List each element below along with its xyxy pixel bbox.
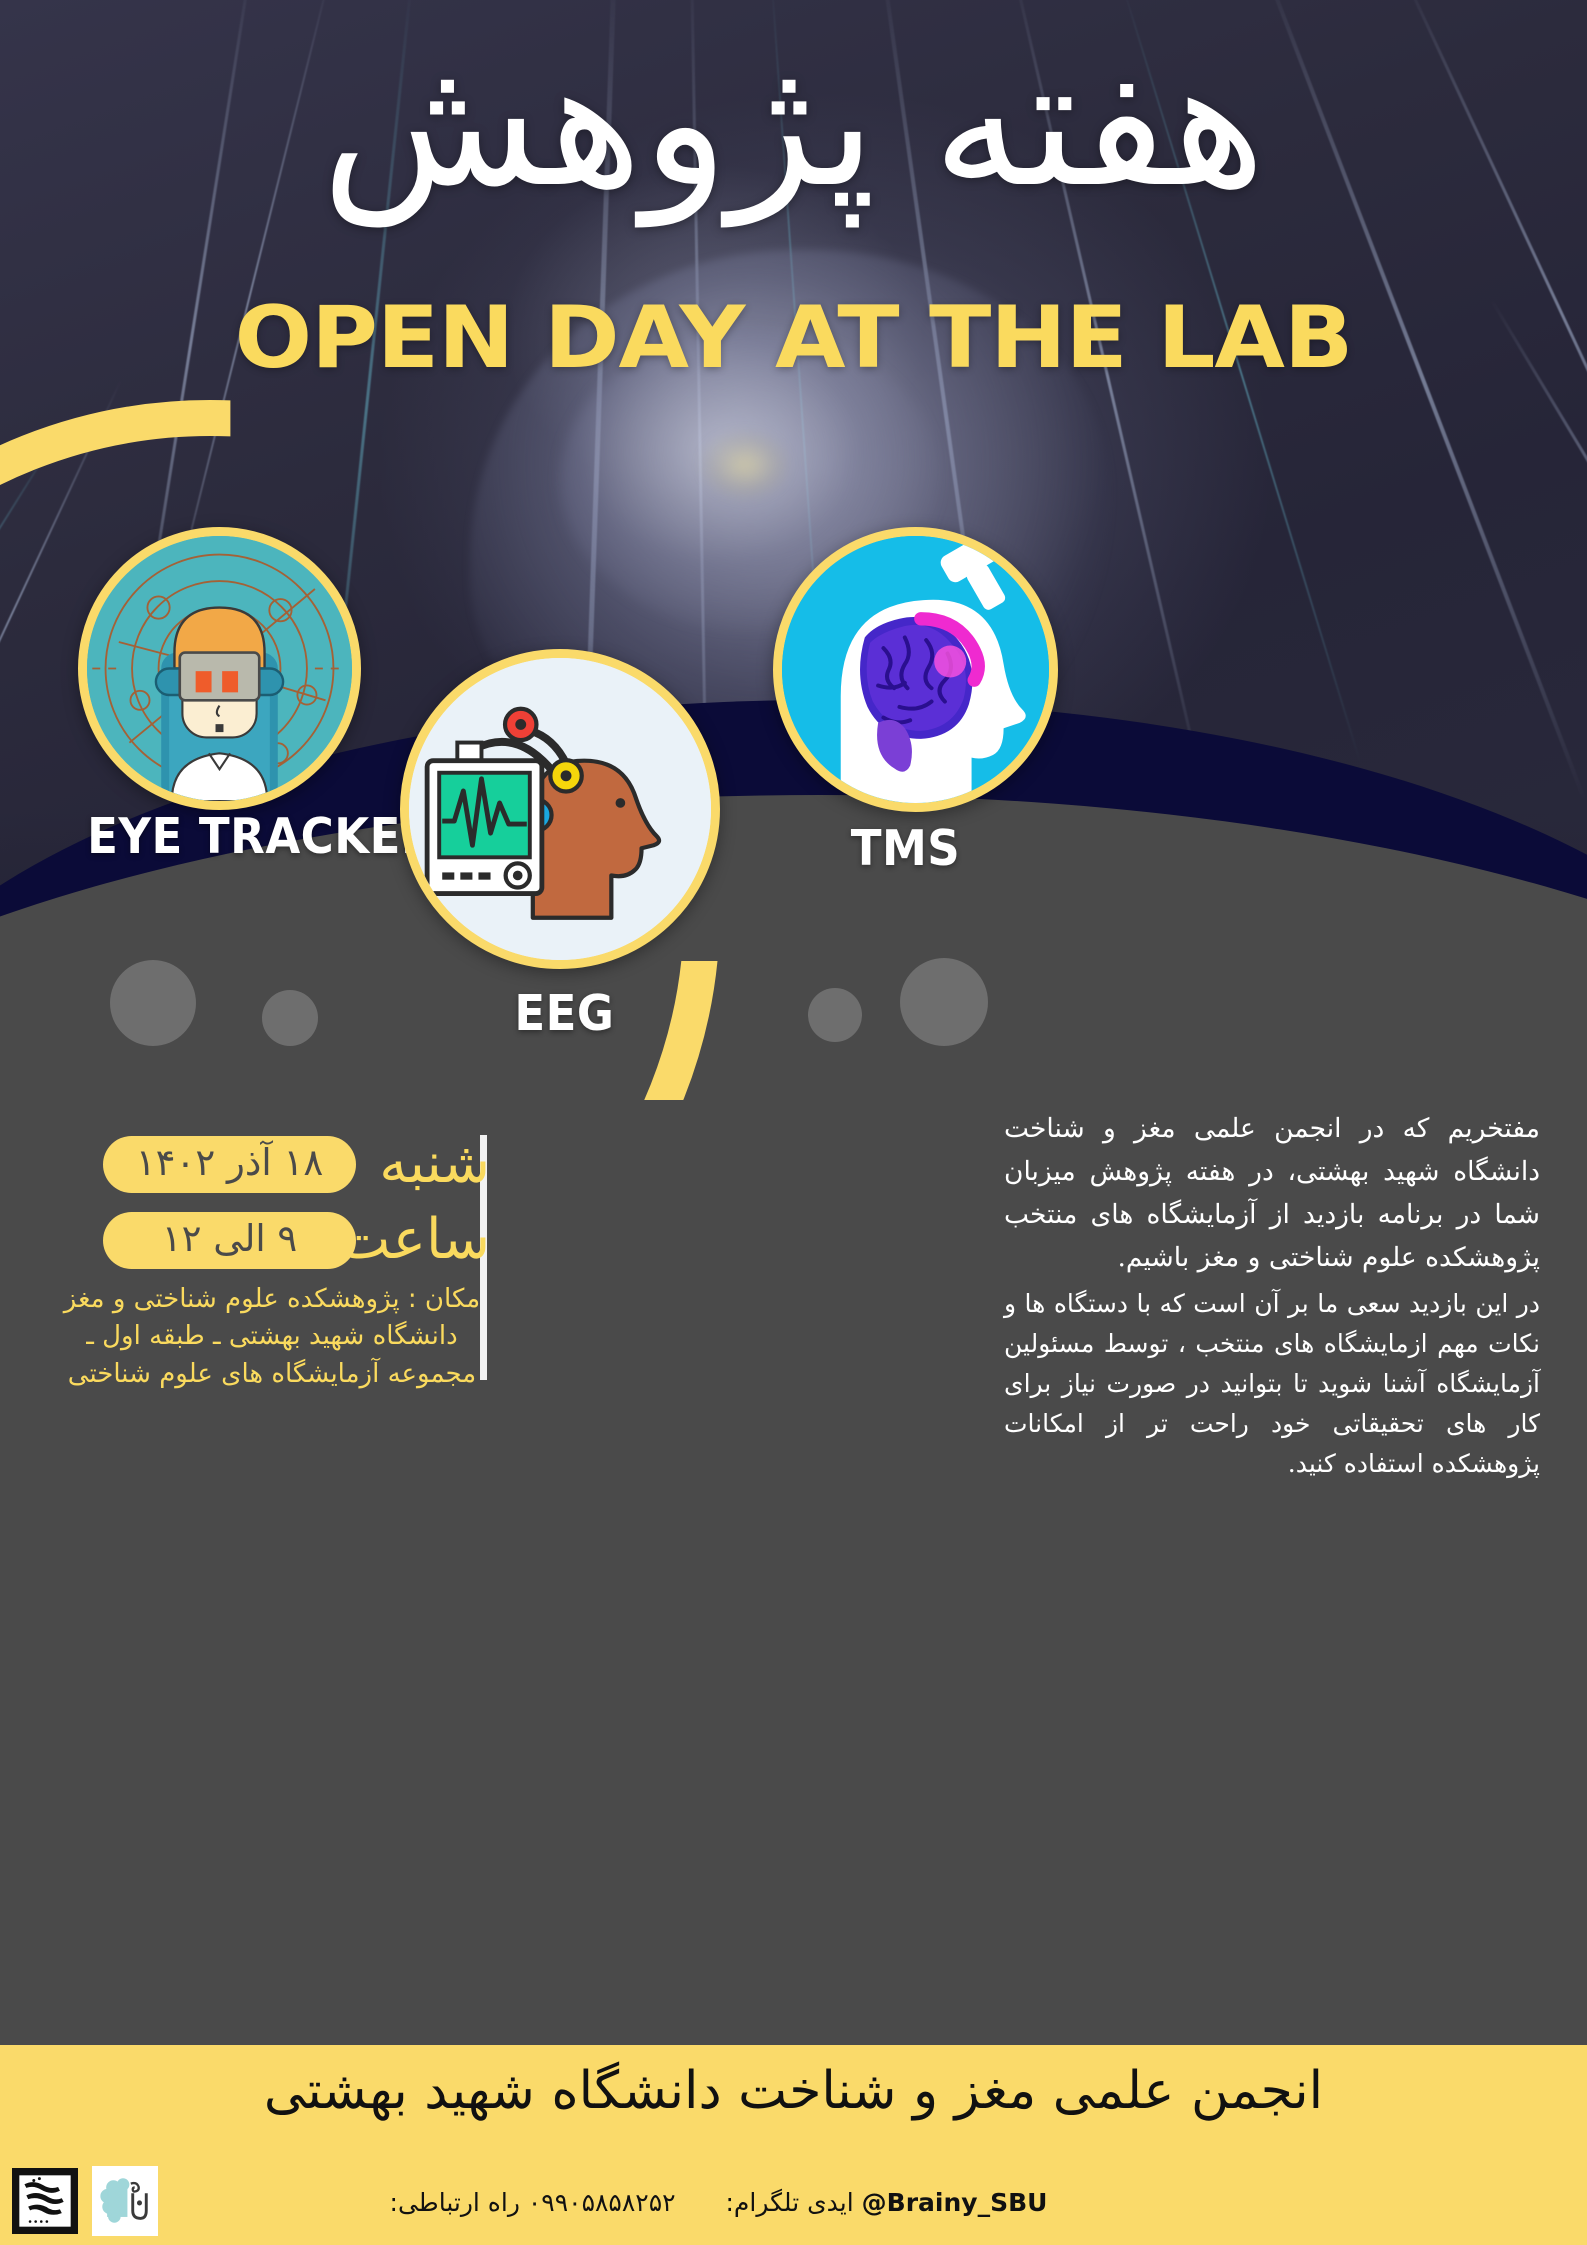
telegram-handle[interactable]: @Brainy_SBU [862, 2188, 1048, 2217]
eye-tracker-icon [87, 536, 352, 801]
decor-dot-3 [808, 988, 862, 1042]
brain-logo-icon [96, 2170, 154, 2232]
page-title-english: OPEN DAY AT THE LAB [0, 295, 1587, 381]
badge-tms[interactable] [773, 527, 1058, 812]
event-time-pill: ۹ الی ۱۲ [103, 1212, 356, 1269]
badge-label-tms: TMS [851, 820, 960, 877]
footer-contact-row: @Brainy_SBU ایدی تلگرام: ۰۹۹۰۵۸۵۸۲۵۲ راه… [0, 2188, 1587, 2217]
poster-root: هفته پژوهش OPEN DAY AT THE LAB [0, 0, 1587, 2245]
telegram-label: ایدی تلگرام: [725, 2188, 853, 2217]
eeg-headset-icon [409, 658, 711, 960]
page-title-persian: هفته پژوهش [0, 30, 1587, 217]
tms-brain-icon [782, 536, 1049, 803]
contact-phone: ۰۹۹۰۵۸۵۸۲۵۲ [528, 2188, 676, 2217]
badge-label-eye-tracker: EYE TRACKER [87, 808, 436, 865]
sbu-logo-icon [17, 2173, 73, 2229]
brain-association-logo [92, 2166, 158, 2236]
event-day-label: شنبه [372, 1135, 490, 1194]
badge-eeg[interactable] [400, 649, 720, 969]
event-day-row: شنبه ۱۸ آذر ۱۴۰۲ [60, 1135, 490, 1194]
description-paragraph-2: در این بازدید سعی ما بر آن است که با دست… [1004, 1284, 1540, 1484]
badge-eye-tracker[interactable] [78, 527, 361, 810]
contact-label: راه ارتباطی: [390, 2188, 520, 2217]
footer-organization: انجمن علمی مغز و شناخت دانشگاه شهید بهشت… [0, 2060, 1587, 2122]
sbu-university-logo [12, 2168, 78, 2234]
event-when-block: شنبه ۱۸ آذر ۱۴۰۲ ساعت ۹ الی ۱۲ [60, 1135, 490, 1287]
description-paragraph-1: مفتخریم که در انجمن علمی مغز و شناخت دان… [1004, 1108, 1540, 1280]
event-time-label: ساعت [372, 1211, 490, 1270]
neuron-spark [700, 430, 790, 500]
decor-dot-1 [110, 960, 196, 1046]
decor-dot-4 [900, 958, 988, 1046]
decor-dot-2 [262, 990, 318, 1046]
badge-label-eeg: EEG [514, 985, 614, 1042]
event-time-row: ساعت ۹ الی ۱۲ [60, 1211, 490, 1270]
event-location: مکان : پژوهشکده علوم شناختی و مغز دانشگا… [60, 1281, 484, 1393]
description-block: مفتخریم که در انجمن علمی مغز و شناخت دان… [1004, 1108, 1540, 1488]
event-date-pill: ۱۸ آذر ۱۴۰۲ [103, 1136, 356, 1193]
